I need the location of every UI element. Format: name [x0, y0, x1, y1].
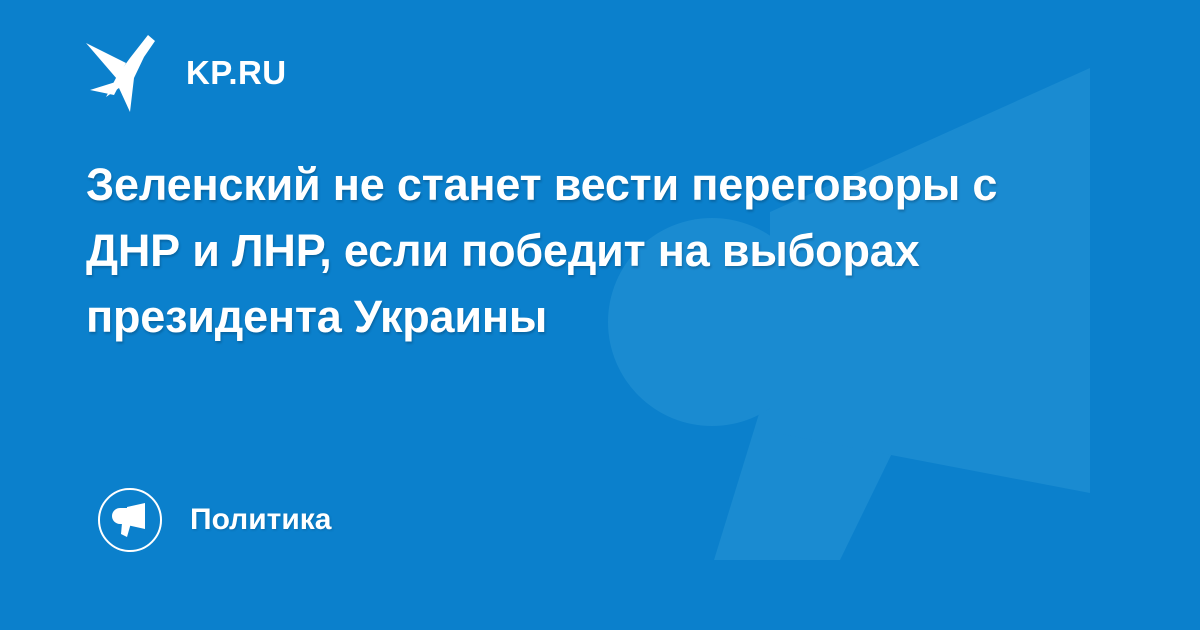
brand-lockup[interactable]: KP.RU — [86, 30, 286, 114]
category-label: Политика — [190, 505, 331, 535]
share-card: KP.RU Зеленский не станет вести перегово… — [0, 0, 1200, 630]
category-icon-wrap — [98, 488, 162, 552]
brand-wordmark: KP.RU — [186, 56, 286, 89]
headline: Зеленский не станет вести переговоры с Д… — [86, 152, 1086, 350]
megaphone-icon — [112, 503, 148, 537]
category-badge[interactable]: Политика — [98, 488, 331, 552]
swallow-bird-icon — [86, 32, 164, 112]
